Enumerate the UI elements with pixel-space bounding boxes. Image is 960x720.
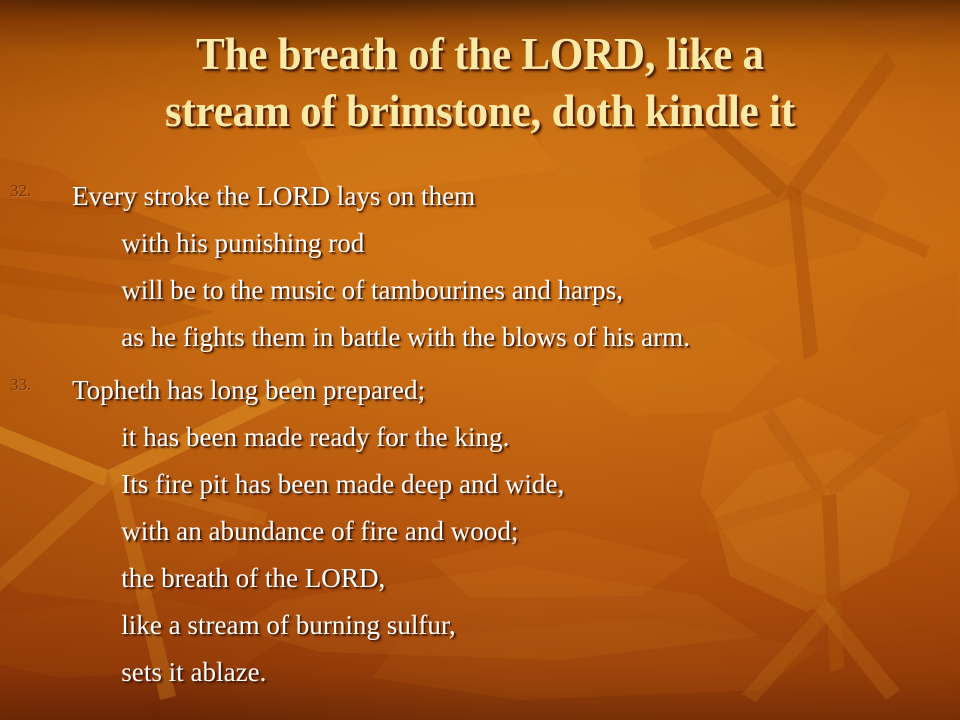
verse-item-33: 33. Topheth has long been prepared; it h…: [0, 366, 960, 695]
verse-line: sets it ablaze.: [72, 648, 947, 695]
verse-line: it has been made ready for the king.: [72, 413, 947, 460]
verse-line: with his punishing rod: [72, 219, 947, 266]
verse-line: with an abundance of fire and wood;: [72, 507, 947, 554]
verse-line: Every stroke the LORD lays on them: [72, 172, 947, 219]
slide-title: The breath of the LORD, like a stream of…: [28, 26, 932, 140]
verse-item-32: 32. Every stroke the LORD lays on them w…: [0, 172, 960, 360]
verse-line: Its fire pit has been made deep and wide…: [72, 460, 947, 507]
title-line-2: stream of brimstone, doth kindle it: [48, 83, 911, 140]
title-line-1: The breath of the LORD, like a: [48, 26, 911, 83]
verse-line: as he fights them in battle with the blo…: [72, 313, 947, 360]
verse-line: will be to the music of tambourines and …: [72, 266, 947, 313]
verse-number: 32.: [10, 182, 31, 199]
verse-line: like a stream of burning sulfur,: [72, 601, 947, 648]
verse-line: Topheth has long been prepared;: [72, 366, 947, 413]
presentation-slide: The breath of the LORD, like a stream of…: [0, 0, 960, 720]
slide-body: 32. Every stroke the LORD lays on them w…: [0, 172, 960, 701]
verse-line: the breath of the LORD,: [72, 554, 947, 601]
verse-number: 33.: [10, 376, 31, 393]
